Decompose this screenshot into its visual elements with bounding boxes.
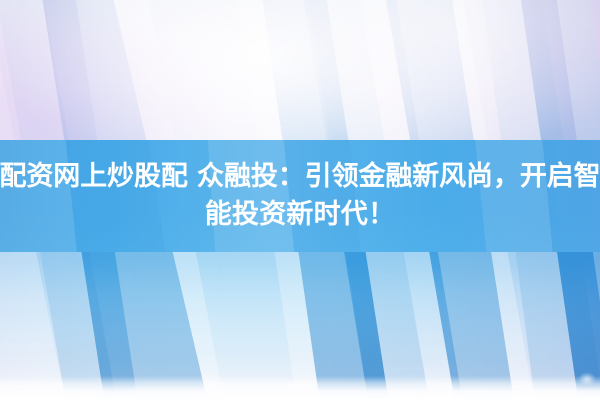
bottom-fade-strip (0, 376, 600, 400)
headline: 配资网上炒股配 众融投：引领金融新风尚，开启智 能投资新时代！ (0, 140, 600, 252)
headline-line-1: 配资网上炒股配 众融投：引领金融新风尚，开启智 (0, 158, 600, 196)
headline-line-2: 能投资新时代！ (205, 196, 395, 234)
banner-image: 配资网上炒股配 众融投：引领金融新风尚，开启智 能投资新时代！ (0, 0, 600, 400)
